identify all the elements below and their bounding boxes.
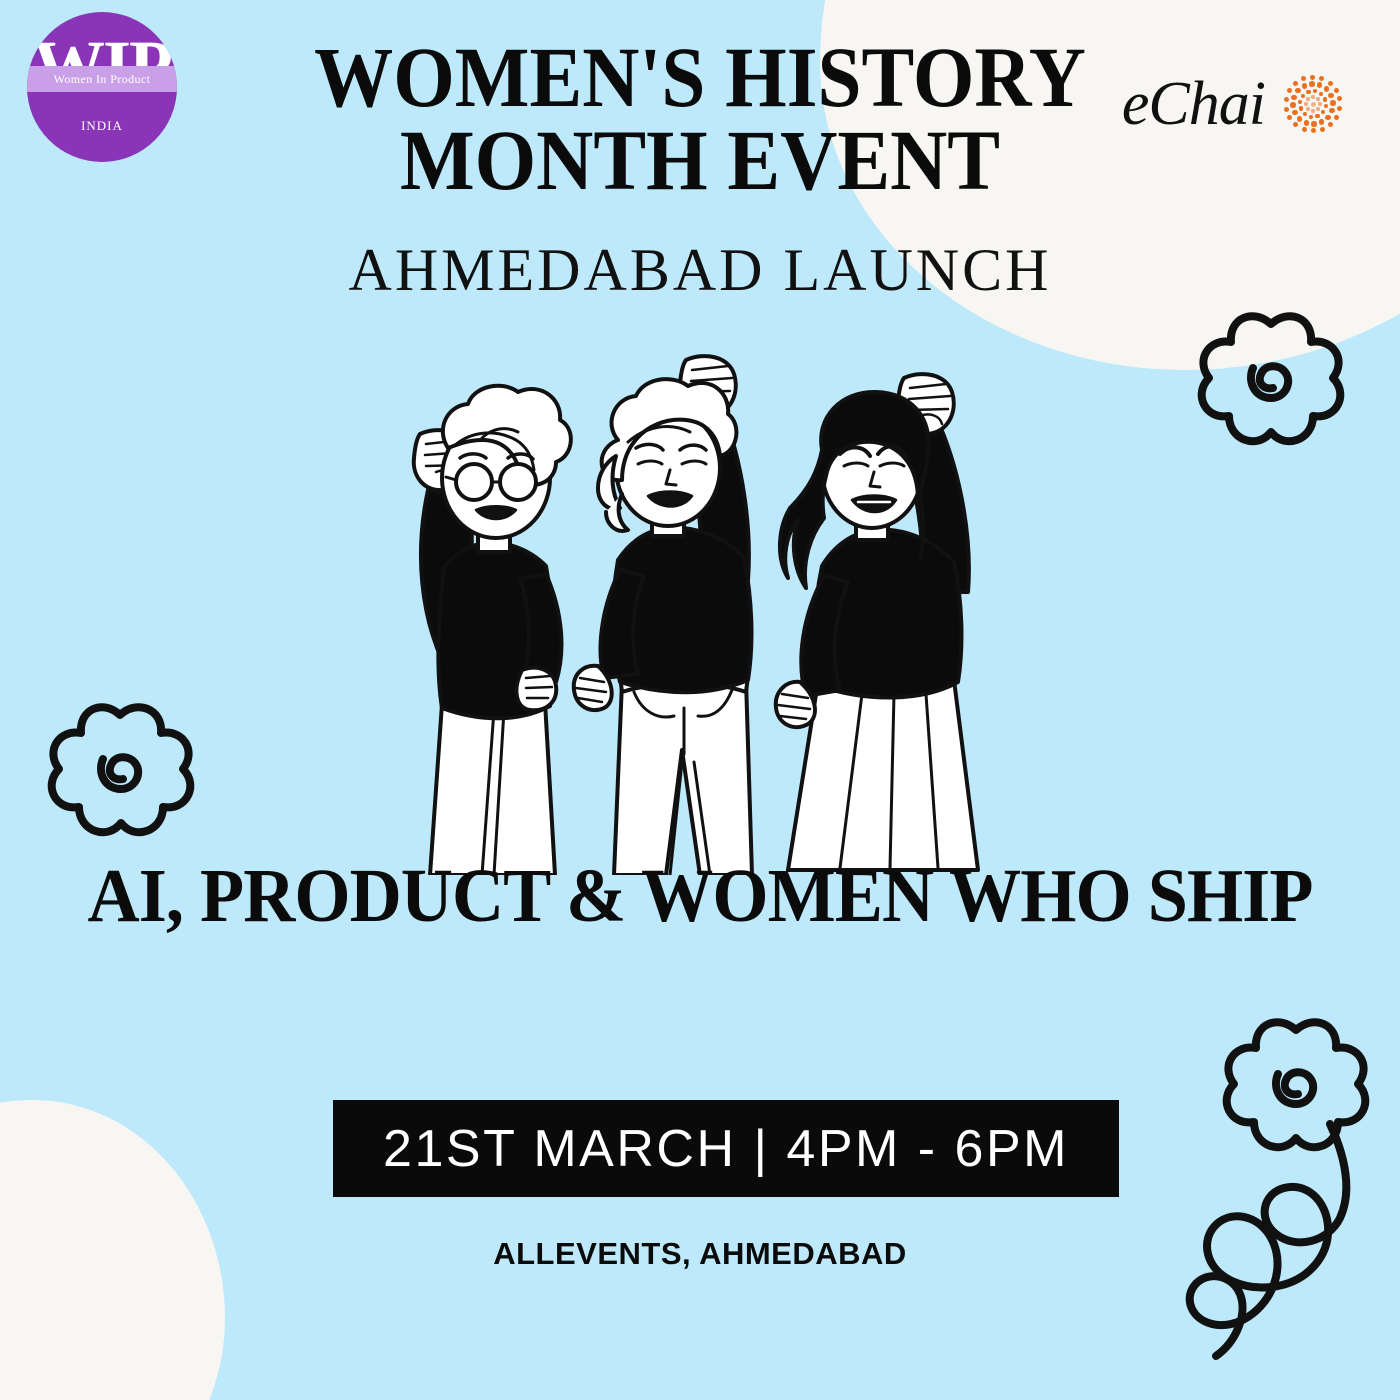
date-time-text: 21ST MARCH | 4PM - 6PM xyxy=(383,1119,1069,1179)
flower-doodle-icon xyxy=(1183,300,1358,460)
three-women-illustration xyxy=(370,330,1050,875)
date-time-banner: 21ST MARCH | 4PM - 6PM xyxy=(333,1100,1119,1197)
title-line-2: MONTH EVENT xyxy=(56,119,1344,202)
title-line-1: WOMEN'S HISTORY xyxy=(56,36,1344,119)
venue-text: ALLEVENTS, AHMEDABAD xyxy=(0,1236,1400,1272)
event-tagline: AI, PRODUCT & WOMEN WHO SHIP xyxy=(35,858,1365,934)
page-title: WOMEN'S HISTORY MONTH EVENT xyxy=(0,36,1400,201)
subtitle: AHMEDABAD LAUNCH xyxy=(0,236,1400,305)
event-poster: WIP Women In Product INDIA eChai WOMEN'S… xyxy=(0,0,1400,1400)
flower-doodle-icon xyxy=(35,693,205,843)
flower-with-stem-doodle-icon xyxy=(1180,1012,1400,1400)
